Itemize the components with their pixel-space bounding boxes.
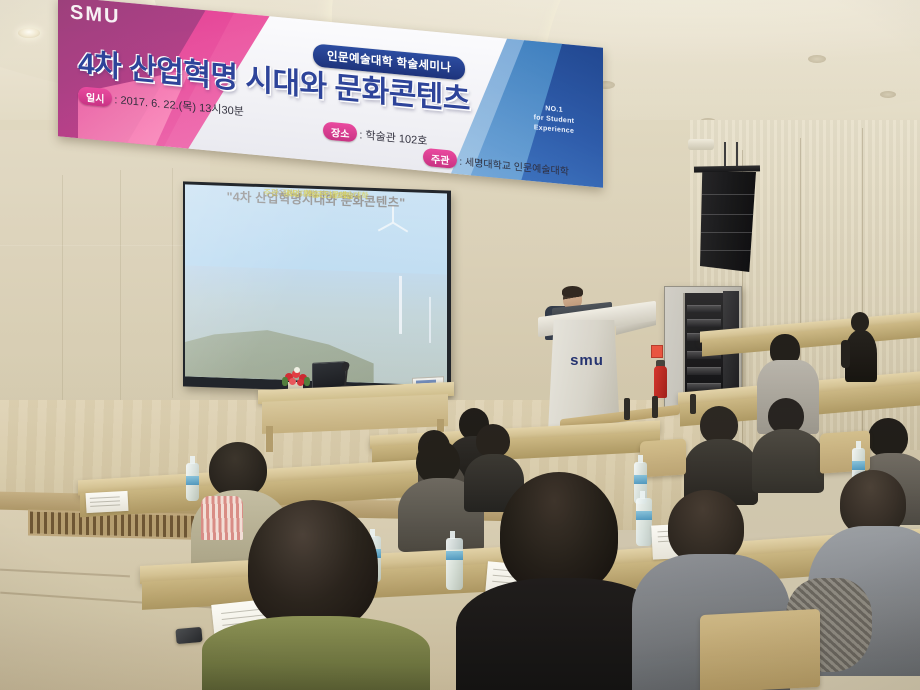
person-head: [476, 424, 510, 458]
stair-rail-post: [652, 396, 658, 418]
fire-extinguisher: [654, 366, 667, 398]
wall-seam: [172, 168, 173, 398]
wall-seam: [120, 170, 121, 400]
banner-tagline: NO.1 for Student Experience: [519, 102, 589, 139]
ceiling-downlight: [880, 91, 896, 98]
person-blouse: [201, 496, 243, 540]
smartphone[interactable]: [175, 627, 202, 644]
wall-seam: [62, 175, 63, 400]
person-head: [248, 500, 378, 632]
ceiling-downlight: [18, 28, 40, 38]
lecture-hall-photo: SMU 인문예술대학 학술세미나 4차 산업혁명 시대와 문화콘텐츠 NO.1 …: [0, 0, 920, 690]
banner-date-label: 일시: [78, 86, 112, 107]
banner-host-label: 주관: [423, 148, 457, 169]
podium-smu-logo: smu: [563, 352, 611, 369]
line-array-speaker: [700, 172, 756, 272]
table-leg: [266, 426, 273, 452]
handout-paper: [86, 491, 129, 513]
person-arm: [841, 340, 850, 368]
person-torso: [752, 429, 824, 493]
chair-back[interactable]: [700, 609, 820, 690]
speaker-cable: [724, 142, 726, 168]
water-bottle: [186, 463, 199, 501]
fire-alarm-sign: [651, 345, 663, 358]
person-torso: [202, 616, 430, 690]
slide-wind-turbine-icon: [429, 297, 431, 343]
person-head: [668, 490, 744, 564]
water-bottle: [446, 538, 463, 590]
presenter-hair: [562, 286, 583, 297]
stair-rail-post: [624, 398, 630, 420]
person-head: [500, 472, 618, 594]
banner-place-label: 장소: [323, 121, 357, 142]
person-head: [851, 312, 869, 332]
speaker-cable: [736, 142, 738, 168]
stair-rail-post: [690, 394, 696, 414]
ceiling-projector: [688, 139, 714, 150]
smu-logo: SMU: [70, 1, 120, 29]
water-bottle: [636, 498, 652, 546]
ceiling-downlight: [808, 55, 826, 63]
speaker-mount-bar: [694, 165, 760, 172]
person-head: [868, 418, 908, 458]
left-wall-section: [0, 130, 210, 430]
wall-panel-edge: [0, 245, 205, 246]
slide-wind-turbine-icon: [399, 276, 402, 334]
projection-screen: 제1회 인문예술대학 학술세미나 "4차 산업혁명시대와 문화콘텐츠" 2017…: [185, 184, 447, 385]
